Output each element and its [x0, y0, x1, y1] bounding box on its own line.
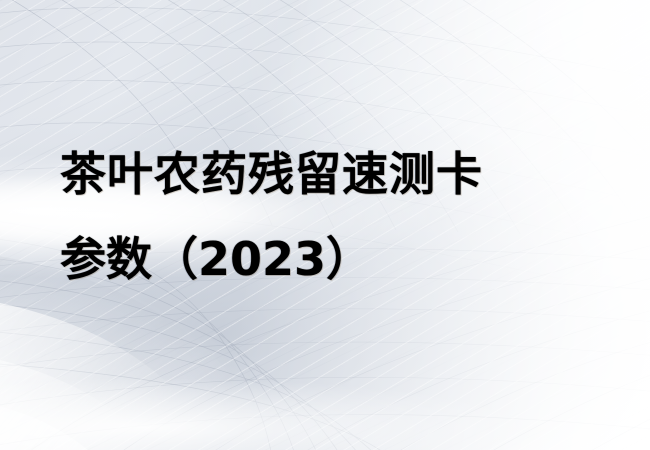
banner-title-line-1: 茶叶农药残留速测卡: [60, 132, 483, 217]
banner-title: 茶叶农药残留速测卡 参数（2023）: [60, 132, 483, 302]
title-banner: 茶叶农药残留速测卡 参数（2023）: [0, 0, 650, 450]
banner-title-line-2: 参数（2023）: [60, 217, 483, 302]
